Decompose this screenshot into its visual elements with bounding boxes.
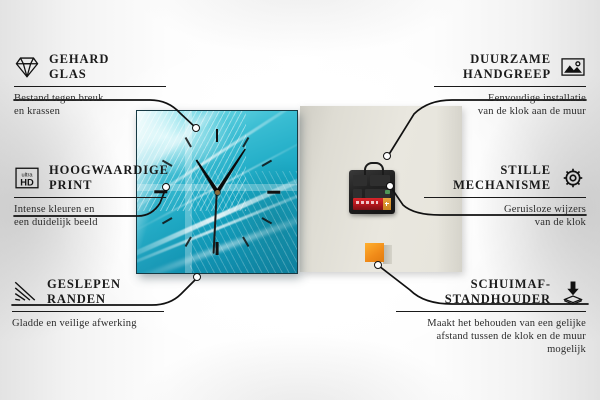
callout-title: SCHUIMAF-STANDHOUDER <box>445 277 551 307</box>
gear-icon <box>560 165 586 191</box>
ultra-hd-bottom-text: HD <box>20 177 34 187</box>
callout-title: GESLEPENRANDEN <box>47 277 121 307</box>
callout-stille-mechanisme: STILLEMECHANISME Geruisloze wijzersvan d… <box>424 163 586 229</box>
connector-dot-schuimaf-standhouder <box>374 261 382 269</box>
infographic-canvas: GEHARDGLAS Bestand tegen breuken krassen… <box>0 0 600 400</box>
callout-divider <box>424 197 586 198</box>
callout-header: DUURZAMEHANDGREEP <box>434 52 586 82</box>
callout-title: GEHARDGLAS <box>49 52 109 82</box>
callout-title: STILLEMECHANISME <box>453 163 551 193</box>
callout-subtitle: Gladde en veilige afwerking <box>12 317 164 330</box>
picture-frame-icon <box>560 54 586 80</box>
callout-divider <box>12 311 164 312</box>
callout-header: ultra HD HOOGWAARDIGEPRINT <box>14 163 166 193</box>
callout-gehard-glas: GEHARDGLAS Bestand tegen breuken krassen <box>14 52 166 118</box>
callout-divider <box>14 197 166 198</box>
callout-header: STILLEMECHANISME <box>424 163 586 193</box>
connector-dot-duurzame-handgreep <box>383 152 391 160</box>
callout-subtitle: Bestand tegen breuken krassen <box>14 92 166 118</box>
callout-subtitle: Geruisloze wijzersvan de klok <box>424 203 586 229</box>
callout-header: GESLEPENRANDEN <box>12 277 164 307</box>
callout-header: SCHUIMAF-STANDHOUDER <box>396 277 586 307</box>
callout-subtitle: Maakt het behouden van een gelijkeafstan… <box>396 317 586 356</box>
ultra-hd-icon: ultra HD <box>14 165 40 191</box>
callout-header: GEHARDGLAS <box>14 52 166 82</box>
diamond-icon <box>14 54 40 80</box>
hatched-edge-icon <box>12 279 38 305</box>
connector-dot-stille-mechanisme <box>386 182 394 190</box>
callout-duurzame-handgreep: DUURZAMEHANDGREEP Eenvoudige installatie… <box>434 52 586 118</box>
callout-subtitle: Eenvoudige installatievan de klok aan de… <box>434 92 586 118</box>
connector-dot-geslepen-randen <box>193 273 201 281</box>
callout-divider <box>396 311 586 312</box>
callout-divider <box>14 86 166 87</box>
press-down-icon <box>560 279 586 305</box>
callout-schuimaf-standhouder: SCHUIMAF-STANDHOUDER Maakt het behouden … <box>396 277 586 356</box>
callout-title: DUURZAMEHANDGREEP <box>463 52 551 82</box>
callout-subtitle: Intense kleuren eneen duidelijk beeld <box>14 203 166 229</box>
callout-title: HOOGWAARDIGEPRINT <box>49 163 169 193</box>
connector-dot-gehard-glas <box>192 124 200 132</box>
callout-divider <box>434 86 586 87</box>
callout-geslepen-randen: GESLEPENRANDEN Gladde en veilige afwerki… <box>12 277 164 330</box>
callout-hoogwaardige-print: ultra HD HOOGWAARDIGEPRINT Intense kleur… <box>14 163 166 229</box>
